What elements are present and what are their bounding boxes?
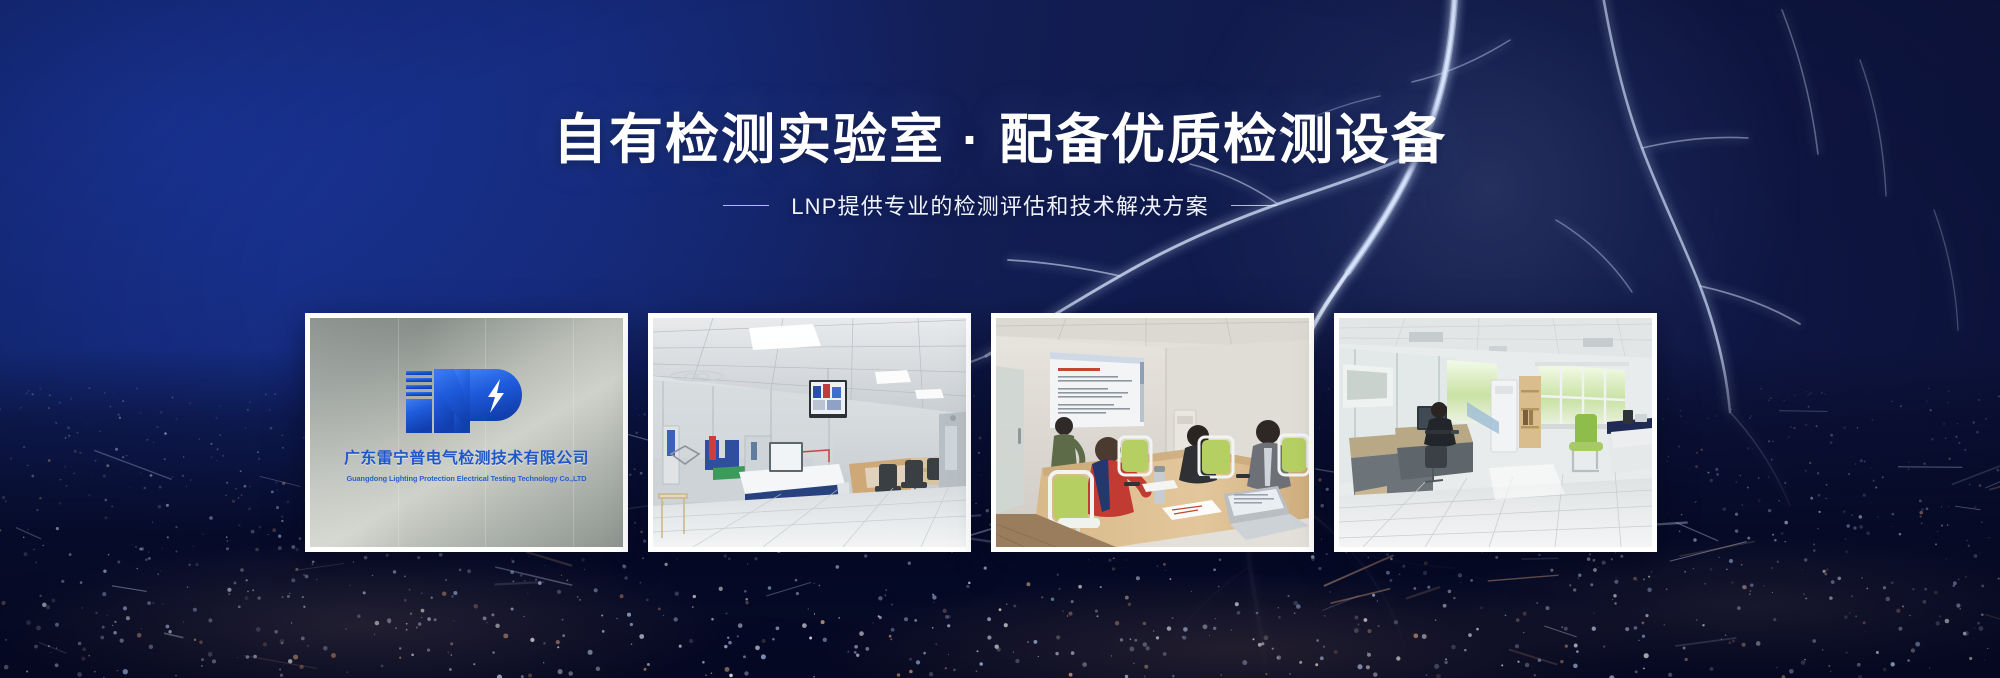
rule-left-icon [723, 205, 769, 206]
office-scene [1339, 318, 1652, 547]
subtitle-row: LNP提供专业的检测评估和技术解决方案 [0, 189, 2000, 221]
lnp-logo-icon [400, 363, 534, 437]
gallery-item-office[interactable] [1334, 313, 1657, 552]
gallery-item-laboratory[interactable] [648, 313, 971, 552]
page-subtitle: LNP提供专业的检测评估和技术解决方案 [791, 189, 1209, 221]
meeting-room-scene [996, 318, 1309, 547]
logo-wall-scene: 广东雷宁普电气检测技术有限公司 Guangdong Lighting Prote… [310, 318, 623, 547]
logo-company-name-en: Guangdong Lighting Protection Electrical… [310, 474, 623, 483]
rule-right-icon [1231, 205, 1277, 206]
gallery-item-logo-wall[interactable]: 广东雷宁普电气检测技术有限公司 Guangdong Lighting Prote… [305, 313, 628, 552]
laboratory-scene [653, 318, 966, 547]
gallery-item-meeting[interactable] [991, 313, 1314, 552]
photo-gallery: 广东雷宁普电气检测技术有限公司 Guangdong Lighting Prote… [305, 313, 1657, 552]
hero-banner: 自有检测实验室 · 配备优质检测设备 LNP提供专业的检测评估和技术解决方案 [0, 0, 2000, 678]
headline-block: 自有检测实验室 · 配备优质检测设备 LNP提供专业的检测评估和技术解决方案 [0, 0, 2000, 221]
logo-company-name-cn: 广东雷宁普电气检测技术有限公司 [310, 446, 623, 468]
page-title: 自有检测实验室 · 配备优质检测设备 [0, 112, 2000, 169]
